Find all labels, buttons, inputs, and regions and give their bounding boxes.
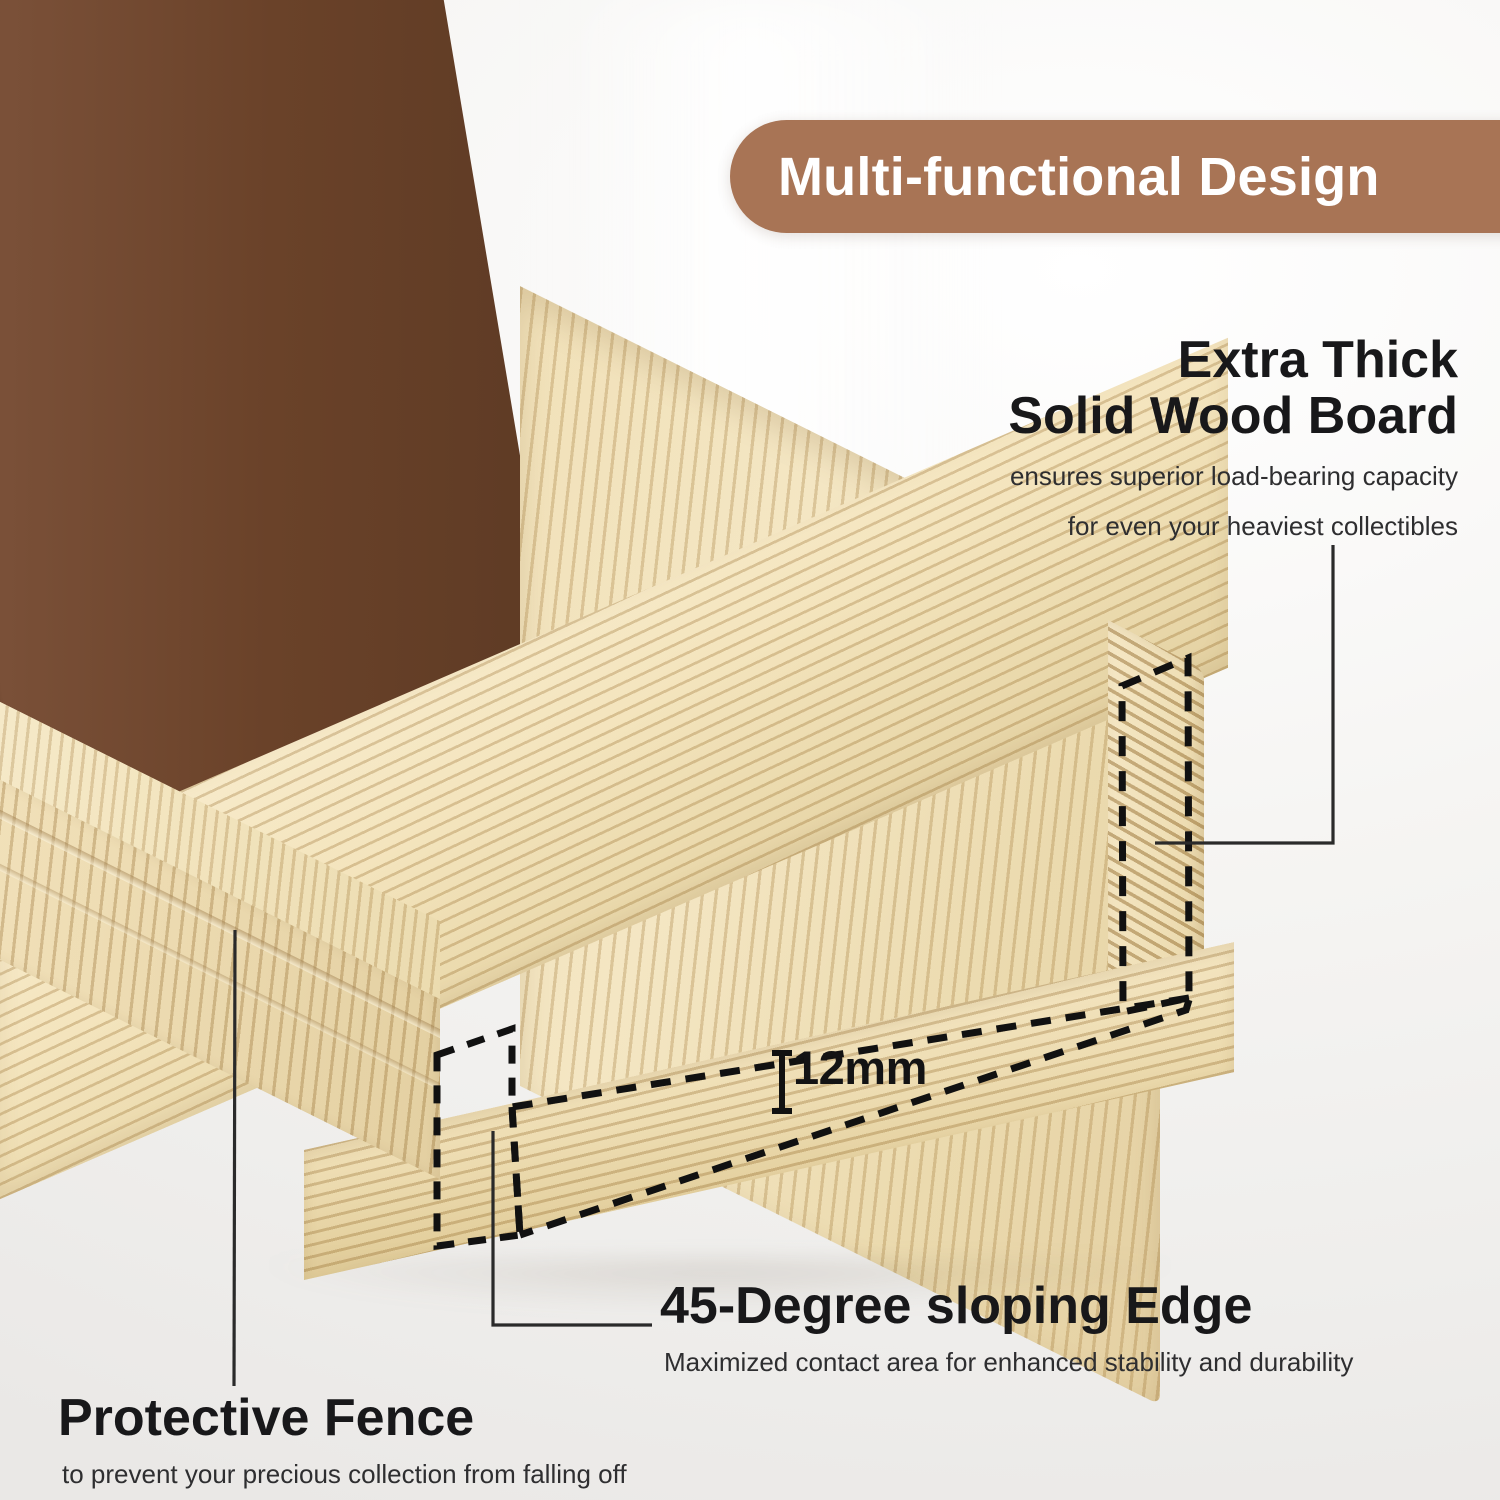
callout-title: Protective Fence <box>58 1390 627 1446</box>
infographic-canvas: Multi-functional Design Extra Thick Soli… <box>0 0 1500 1500</box>
header-banner-label: Multi-functional Design <box>778 146 1380 208</box>
callout-title: 45-Degree sloping Edge <box>660 1278 1353 1334</box>
callout-extra-thick-solid-wood-board: Extra Thick Solid Wood Board ensures sup… <box>1008 332 1458 544</box>
callout-title-line-2: Solid Wood Board <box>1008 388 1458 444</box>
dimension-label-12mm: 12mm <box>793 1040 927 1095</box>
callout-subtitle-line-2: for even your heaviest collectibles <box>1008 510 1458 544</box>
callout-subtitle: Maximized contact area for enhanced stab… <box>664 1346 1353 1380</box>
callout-protective-fence: Protective Fence to prevent your preciou… <box>58 1390 627 1492</box>
callout-title-line-1: Extra Thick <box>1008 332 1458 388</box>
callout-subtitle: to prevent your precious collection from… <box>62 1458 627 1492</box>
callout-45-degree-sloping-edge: 45-Degree sloping Edge Maximized contact… <box>660 1278 1353 1380</box>
callout-subtitle-line-1: ensures superior load-bearing capacity <box>1008 460 1458 494</box>
header-banner: Multi-functional Design <box>730 120 1500 233</box>
